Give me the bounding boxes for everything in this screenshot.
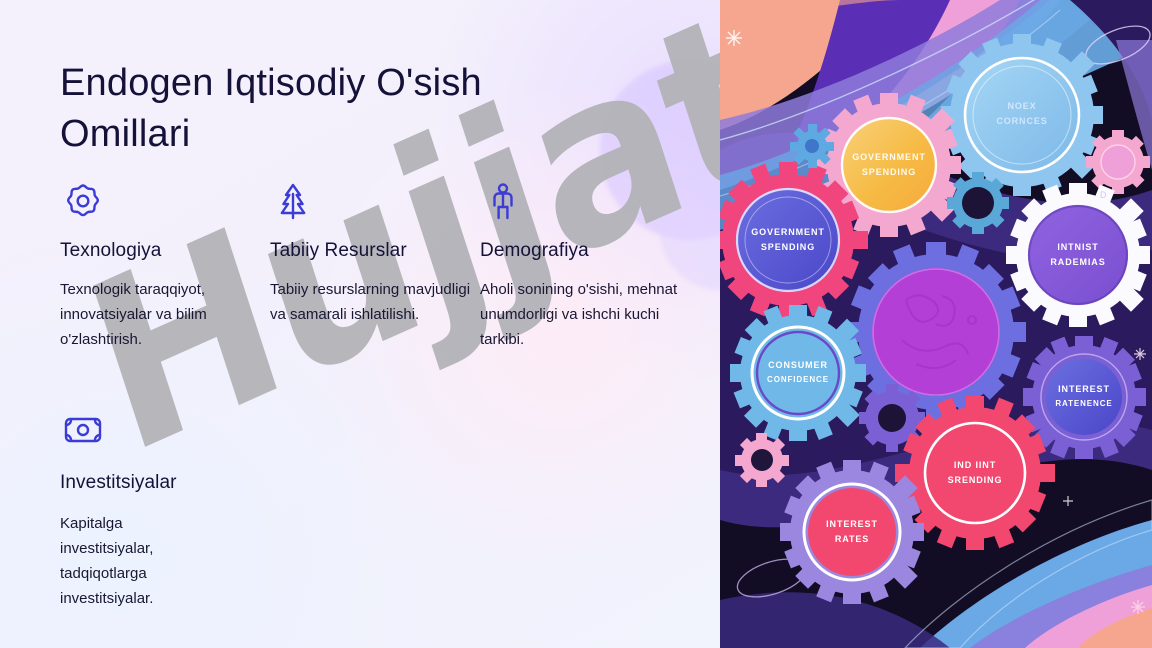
feature-item-texnologiya: Texnologiya Texnologik taraqqiyot, innov… (60, 178, 270, 353)
gear-label: CORNCES (996, 116, 1047, 126)
gear-label: GOVERNMENT (751, 227, 825, 237)
gear-tiny-blue (790, 124, 834, 168)
page-title: Endogen Iqtisodiy O'sish Omillari (60, 58, 620, 160)
page-title-line1: Endogen Iqtisodiy O'sish (60, 58, 620, 109)
gear-label: CONSUMER (768, 360, 828, 370)
left-content-panel: Hujjat Endogen Iqtisodiy O'sish Omillari… (0, 0, 720, 648)
gear-label: RATES (835, 534, 869, 544)
sparkle-icon (1131, 600, 1145, 614)
feature-item-investitsiyalar: Investitsiyalar Kapitalga investitsiyala… (60, 410, 275, 612)
gear-label: INTEREST (826, 519, 878, 529)
feature-description: Texnologik taraqqiyot, innovatsiyalar va… (60, 278, 270, 353)
feature-title: Demografiya (480, 240, 690, 262)
sparkle-icon (726, 30, 742, 46)
banknote-icon (60, 410, 275, 456)
gear-label: SPENDING (862, 167, 916, 177)
feature-grid: Texnologiya Texnologik taraqqiyot, innov… (60, 178, 700, 353)
gear-label: IND IINT (954, 460, 996, 470)
gear-label: CONFIDENCE (767, 375, 829, 384)
gear-label: RADEMIAS (1050, 257, 1105, 267)
gear-label: INTNIST (1057, 242, 1098, 252)
gears-svg: NOEX CORNCES (720, 0, 1152, 648)
gear-label: RATENENCE (1055, 399, 1112, 408)
person-icon (480, 178, 690, 224)
economic-gears-illustration: NOEX CORNCES (720, 0, 1152, 648)
slide-root: Hujjat Endogen Iqtisodiy O'sish Omillari… (0, 0, 1152, 648)
gear-label: INTEREST (1058, 384, 1110, 394)
gear-label: SRENDING (948, 475, 1003, 485)
gear-consumer-confidence: CONSUMER CONFIDENCE (730, 305, 866, 441)
feature-title: Texnologiya (60, 240, 270, 262)
gear-label: NOEX (1007, 101, 1036, 111)
gear-label: SPENDING (761, 242, 815, 252)
page-title-line2: Omillari (60, 109, 620, 160)
gear-label: GOVERNMENT (852, 152, 926, 162)
feature-item-demografiya: Demografiya Aholi sonining o'sishi, mehn… (480, 178, 690, 353)
feature-description: Kapitalga investitsiyalar, tadqiqotlarga… (60, 512, 210, 612)
feature-title: Tabiiy Resurslar (270, 240, 480, 262)
pine-tree-icon (270, 178, 480, 224)
feature-description: Aholi sonining o'sishi, mehnat unumdorli… (480, 278, 690, 353)
feature-item-tabiiy-resurslar: Tabiiy Resurslar Tabiiy resurslarning ma… (270, 178, 480, 353)
feature-title: Investitsiyalar (60, 472, 275, 494)
gear-noex-cornces: NOEX CORNCES (941, 34, 1103, 196)
decorative-mark: D (1100, 190, 1107, 200)
feature-description: Tabiiy resurslarning mavjudligi va samar… (270, 278, 480, 328)
gear-icon (60, 178, 270, 224)
